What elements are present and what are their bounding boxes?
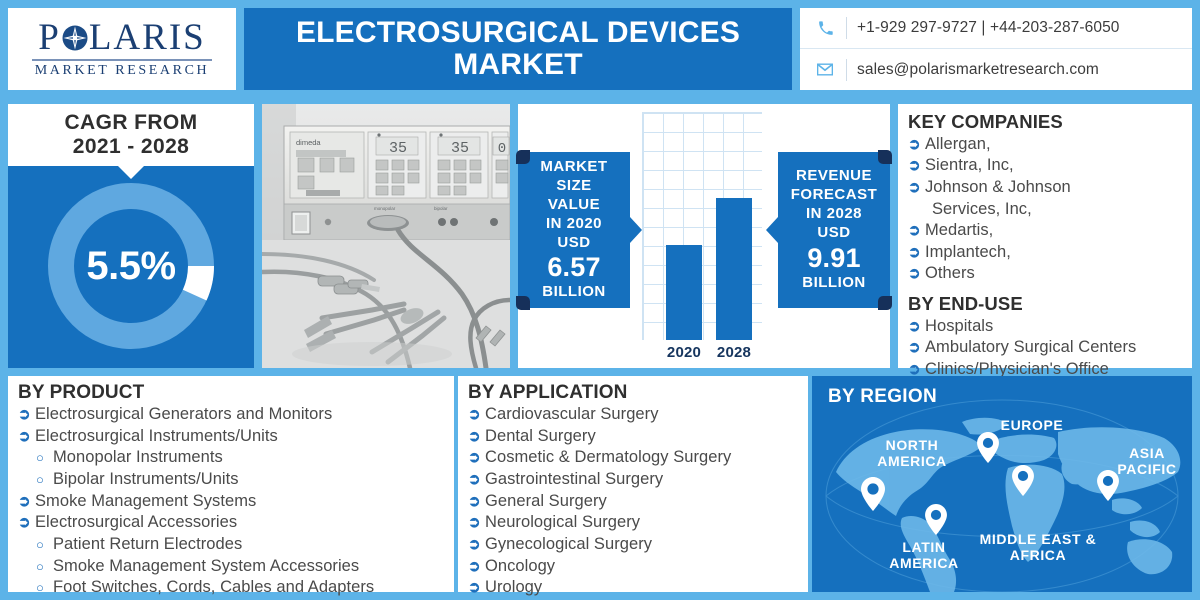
circle-outline-bullet: ○ — [36, 449, 53, 466]
svg-text:monopolar: monopolar — [374, 206, 396, 211]
electrosurgical-generator-photo: dimeda 35 35 0 — [262, 104, 510, 368]
region-label-latin-america: LATIN AMERICA — [876, 540, 972, 571]
circular-arrow-bullet: ➲ — [18, 492, 35, 512]
list-item: ➲Neurological Surgery — [468, 512, 800, 534]
map-pin-icon — [861, 477, 885, 511]
list-item-label: Cardiovascular Surgery — [485, 404, 659, 426]
list-item-label: Electrosurgical Generators and Monitors — [35, 404, 332, 426]
revenue-forecast-callout: REVENUE FORECAST IN 2028 USD 9.91 BILLIO… — [778, 152, 890, 308]
market-size-l1: MARKET — [540, 158, 607, 177]
envelope-icon — [814, 63, 836, 76]
end-use-heading: BY END-USE — [908, 294, 1186, 315]
list-item-label: Sientra, Inc, — [925, 155, 1014, 177]
list-item-label: Services, Inc, — [932, 199, 1032, 221]
market-size-l4: IN 2020 — [546, 215, 602, 234]
circular-arrow-bullet: ➲ — [468, 470, 485, 490]
circular-arrow-bullet: ➲ — [468, 427, 485, 447]
list-item: ➲Dental Surgery — [468, 426, 800, 448]
circular-arrow-bullet: ➲ — [908, 243, 925, 263]
revenue-l1: REVENUE — [796, 167, 872, 186]
market-size-l5: USD — [557, 234, 590, 253]
circular-arrow-bullet: ➲ — [908, 264, 925, 284]
list-item-label: Dental Surgery — [485, 426, 596, 448]
list-item: ➲Electrosurgical Instruments/Units — [18, 426, 446, 448]
region-label-middle-east-africa: MIDDLE EAST & AFRICA — [972, 532, 1104, 563]
infographic-title: ELECTROSURGICAL DEVICES MARKET — [244, 8, 792, 90]
list-item-label: Monopolar Instruments — [53, 447, 223, 469]
list-item: ➲Allergan, — [908, 134, 1186, 156]
revenue-l3: IN 2028 — [806, 205, 862, 224]
list-item-label: Implantech, — [925, 242, 1011, 264]
list-item-label: Cosmetic & Dermatology Surgery — [485, 447, 731, 469]
list-item: ➲Others — [908, 263, 1186, 285]
list-item-label: Smoke Management System Accessories — [53, 556, 359, 578]
list-item: ○Monopolar Instruments — [18, 447, 446, 469]
list-item: ➲Urology — [468, 577, 800, 599]
list-item: ○Bipolar Instruments/Units — [18, 469, 446, 491]
phone-row: +1-929 297-9727 | +44-203-287-6050 — [800, 8, 1192, 49]
map-pin-icon — [925, 504, 947, 535]
circular-arrow-bullet: ➲ — [468, 557, 485, 577]
list-item: ➲Gynecological Surgery — [468, 534, 800, 556]
list-item-continuation: Services, Inc, — [908, 199, 1186, 221]
contact-divider-2 — [846, 59, 847, 81]
circle-outline-bullet: ○ — [36, 536, 53, 553]
market-size-l3: VALUE — [548, 196, 600, 215]
key-companies-heading: KEY COMPANIES — [908, 112, 1186, 133]
circular-arrow-bullet: ➲ — [908, 178, 925, 198]
list-item-label: Patient Return Electrodes — [53, 534, 242, 556]
region-label-europe: EUROPE — [992, 418, 1072, 434]
callout-pointer — [766, 217, 778, 243]
logo-subtitle: MARKET RESEARCH — [35, 63, 209, 79]
list-item: ○Smoke Management System Accessories — [18, 556, 446, 578]
bar-2028 — [716, 198, 752, 340]
list-item: ➲Electrosurgical Accessories — [18, 512, 446, 534]
compass-star-icon — [62, 25, 88, 51]
svg-text:35: 35 — [389, 140, 407, 157]
circular-arrow-bullet: ➲ — [468, 448, 485, 468]
market-size-value: 6.57 — [547, 252, 600, 283]
list-item: ○Patient Return Electrodes — [18, 534, 446, 556]
list-item: ➲Ambulatory Surgical Centers — [908, 337, 1186, 359]
circular-arrow-bullet: ➲ — [908, 156, 925, 176]
email-address[interactable]: sales@polarismarketresearch.com — [857, 61, 1099, 79]
list-item-label: Oncology — [485, 556, 555, 578]
revenue-l2: FORECAST — [791, 186, 878, 205]
cagr-value: 5.5% — [43, 178, 219, 354]
list-item-label: Neurological Surgery — [485, 512, 640, 534]
list-item: ➲Cardiovascular Surgery — [468, 404, 800, 426]
map-pin-icon — [977, 432, 999, 463]
phone-icon — [814, 21, 836, 36]
list-item-label: Ambulatory Surgical Centers — [925, 337, 1136, 359]
circular-arrow-bullet: ➲ — [908, 338, 925, 358]
circular-arrow-bullet: ➲ — [908, 221, 925, 241]
circular-arrow-bullet: ➲ — [908, 317, 925, 337]
by-product-heading: BY PRODUCT — [18, 382, 446, 403]
circular-arrow-bullet: ➲ — [468, 513, 485, 533]
list-item-label: General Surgery — [485, 491, 607, 513]
list-item: ➲Medartis, — [908, 220, 1186, 242]
bar-label-2028: 2028 — [705, 344, 763, 361]
list-item-label: Allergan, — [925, 134, 991, 156]
end-use-list: ➲Hospitals➲Ambulatory Surgical Centers➲C… — [908, 316, 1186, 381]
cagr-donut-chart: 5.5% — [43, 178, 219, 354]
list-item: ➲Oncology — [468, 556, 800, 578]
revenue-l5: BILLION — [802, 274, 866, 293]
key-companies-list: ➲Allergan,➲Sientra, Inc,➲Johnson & Johns… — [908, 134, 1186, 285]
revenue-value: 9.91 — [807, 243, 860, 274]
circular-arrow-bullet: ➲ — [468, 535, 485, 555]
list-item: ➲Electrosurgical Generators and Monitors — [18, 404, 446, 426]
region-label-north-america: NORTH AMERICA — [864, 438, 960, 469]
cagr-panel: CAGR FROM 2021 - 2028 5.5% — [8, 104, 254, 368]
list-item-label: Foot Switches, Cords, Cables and Adapter… — [53, 577, 374, 599]
circle-outline-bullet: ○ — [36, 558, 53, 575]
logo-divider — [32, 59, 212, 61]
page-title: ELECTROSURGICAL DEVICES MARKET — [252, 17, 784, 81]
callout-pointer — [630, 217, 642, 243]
infographic-root: P LARIS MARKET RESEARCH ELECTROSURGICAL … — [0, 0, 1200, 600]
svg-text:35: 35 — [451, 140, 469, 157]
corner-accent — [878, 150, 892, 164]
cagr-label-line2: 2021 - 2028 — [73, 135, 190, 159]
map-pin-icon — [1012, 465, 1034, 496]
svg-text:0: 0 — [498, 141, 506, 157]
list-item: ➲General Surgery — [468, 491, 800, 513]
contact-block: +1-929 297-9727 | +44-203-287-6050 sales… — [800, 8, 1192, 90]
svg-text:bipolar: bipolar — [434, 206, 448, 211]
list-item-label: Others — [925, 263, 975, 285]
list-item: ➲Johnson & Johnson — [908, 177, 1186, 199]
corner-accent — [516, 150, 530, 164]
market-size-l2: SIZE — [556, 177, 591, 196]
logo-word-post: LARIS — [89, 19, 206, 56]
by-product-list: ➲Electrosurgical Generators and Monitors… — [18, 404, 446, 600]
by-application-list: ➲Cardiovascular Surgery➲Dental Surgery➲C… — [468, 404, 800, 600]
circle-outline-bullet: ○ — [36, 579, 53, 596]
list-item-label: Urology — [485, 577, 542, 599]
list-item: ➲Hospitals — [908, 316, 1186, 338]
circular-arrow-bullet: ➲ — [18, 513, 35, 533]
region-label-asia-pacific: ASIA PACIFIC — [1108, 446, 1186, 477]
circular-arrow-bullet: ➲ — [908, 135, 925, 155]
contact-divider-1 — [846, 17, 847, 39]
by-region-panel: BY REGION NORTH AMERICA EUROPE ASIA PACI… — [812, 376, 1192, 592]
list-item-label: Johnson & Johnson — [925, 177, 1071, 199]
corner-accent — [878, 296, 892, 310]
by-product-panel: BY PRODUCT ➲Electrosurgical Generators a… — [8, 376, 454, 592]
cagr-label-line1: CAGR FROM — [64, 111, 197, 135]
phone-number[interactable]: +1-929 297-9727 | +44-203-287-6050 — [857, 19, 1120, 37]
list-item: ➲Smoke Management Systems — [18, 491, 446, 513]
logo-wordmark: P LARIS — [38, 19, 205, 56]
list-item-label: Bipolar Instruments/Units — [53, 469, 239, 491]
list-item-label: Medartis, — [925, 220, 993, 242]
logo-word-pre: P — [38, 19, 61, 56]
market-size-callout: MARKET SIZE VALUE IN 2020 USD 6.57 BILLI… — [518, 152, 630, 308]
email-row: sales@polarismarketresearch.com — [800, 49, 1192, 90]
circular-arrow-bullet: ➲ — [468, 578, 485, 598]
list-item-label: Electrosurgical Accessories — [35, 512, 237, 534]
market-size-l6: BILLION — [542, 283, 606, 302]
list-item-label: Gastrointestinal Surgery — [485, 469, 663, 491]
list-item-label: Electrosurgical Instruments/Units — [35, 426, 278, 448]
by-region-heading: BY REGION — [828, 386, 937, 408]
svg-text:dimeda: dimeda — [296, 138, 321, 147]
corner-accent — [516, 296, 530, 310]
list-item: ➲Implantech, — [908, 242, 1186, 264]
list-item: ➲Sientra, Inc, — [908, 155, 1186, 177]
product-photo: dimeda 35 35 0 — [262, 104, 510, 368]
list-item: ➲Cosmetic & Dermatology Surgery — [468, 447, 800, 469]
header: P LARIS MARKET RESEARCH ELECTROSURGICAL … — [0, 0, 1200, 96]
circular-arrow-bullet: ➲ — [18, 405, 35, 425]
list-item-label: Gynecological Surgery — [485, 534, 652, 556]
circular-arrow-bullet: ➲ — [18, 427, 35, 447]
list-item-label: Hospitals — [925, 316, 993, 338]
list-item: ➲Gastrointestinal Surgery — [468, 469, 800, 491]
circular-arrow-bullet: ➲ — [468, 405, 485, 425]
list-item-label: Smoke Management Systems — [35, 491, 256, 513]
circular-arrow-bullet: ➲ — [468, 492, 485, 512]
cagr-label-box: CAGR FROM 2021 - 2028 — [8, 104, 254, 166]
by-application-heading: BY APPLICATION — [468, 382, 800, 403]
bar-2020 — [666, 245, 702, 340]
key-companies-panel: KEY COMPANIES ➲Allergan,➲Sientra, Inc,➲J… — [898, 104, 1192, 368]
circle-outline-bullet: ○ — [36, 471, 53, 488]
by-application-panel: BY APPLICATION ➲Cardiovascular Surgery➲D… — [458, 376, 808, 592]
list-item: ○Foot Switches, Cords, Cables and Adapte… — [18, 577, 446, 599]
revenue-l4: USD — [817, 224, 850, 243]
market-size-chart-panel: 2020 2028 MARKET SIZE VALUE IN 2020 USD … — [518, 104, 890, 368]
polaris-logo: P LARIS MARKET RESEARCH — [8, 8, 236, 90]
